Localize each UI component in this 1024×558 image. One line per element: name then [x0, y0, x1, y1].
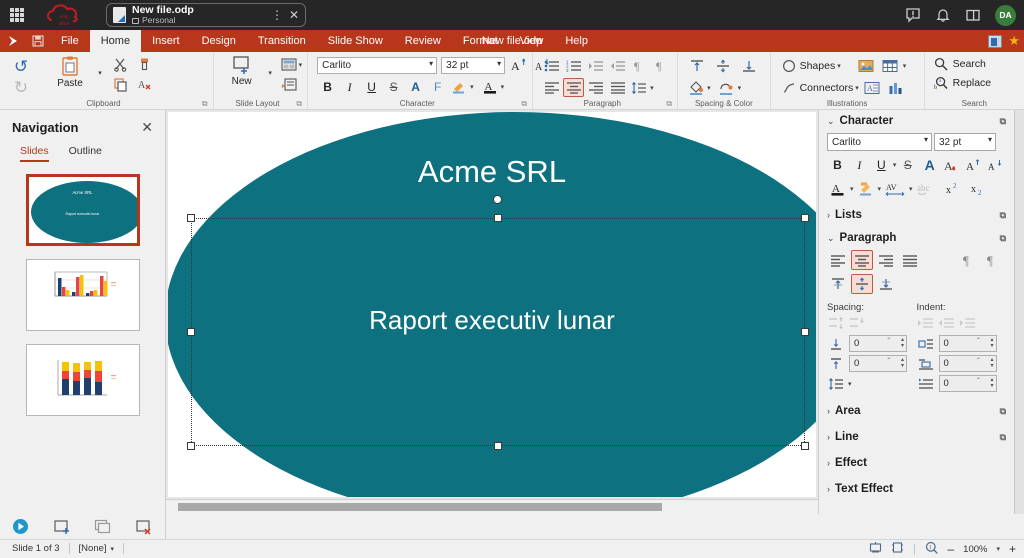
- resize-handle-bottom-center[interactable]: [494, 442, 502, 450]
- start-presentation-button[interactable]: [0, 514, 41, 539]
- line-spacing-button[interactable]: [629, 78, 649, 97]
- fit-slide-icon[interactable]: [869, 541, 882, 557]
- align-left-button[interactable]: [541, 78, 562, 97]
- first-line-indent-stepper[interactable]: ▴▾: [990, 377, 993, 389]
- chevron-down-icon: ⌄: [827, 233, 835, 244]
- top-bar: only office New file.odp Personal ⋮ ✕ DA: [0, 0, 1024, 30]
- tab-format[interactable]: Format: [452, 30, 509, 52]
- search-group-label: Search: [930, 98, 1019, 109]
- tab-menu-icon[interactable]: ⋮: [271, 8, 283, 22]
- align-right-button[interactable]: [585, 78, 606, 97]
- duplicate-slide-button[interactable]: [82, 514, 123, 539]
- resize-handle-top-left[interactable]: [187, 214, 195, 222]
- odp-file-icon: [113, 7, 126, 23]
- top-bar-actions: DA: [905, 0, 1016, 30]
- spacing-below-stepper[interactable]: ▴▾: [901, 357, 904, 369]
- ribbon-group-slide-layout: New ▾ ▾ Slide Layout⧉: [214, 52, 309, 109]
- area-dialog-icon[interactable]: ⧉: [1000, 406, 1006, 417]
- paste-button[interactable]: Paste: [50, 54, 90, 89]
- svg-text:A: A: [944, 159, 953, 173]
- properties-sidebar: ⌄ Character ⧉ Carlito 32 pt B I U ▾ S A …: [818, 110, 1014, 514]
- sidebar-spacing-dropdown[interactable]: ▾: [909, 185, 913, 193]
- indent-after-input[interactable]: 0 ˝ ▴▾: [939, 355, 997, 372]
- indent-after-icon: [917, 356, 935, 372]
- resize-handle-top-center[interactable]: [494, 214, 502, 222]
- slide-thumbnail-2[interactable]: [26, 259, 140, 331]
- svg-text:x: x: [946, 185, 951, 196]
- section-text-effect-label: Text Effect: [835, 483, 893, 495]
- svg-text:AV: AV: [886, 183, 897, 192]
- increase-font-size-button[interactable]: A: [509, 56, 529, 74]
- svg-text:¶: ¶: [656, 59, 662, 73]
- master-dropdown-icon[interactable]: ▾: [111, 545, 115, 553]
- ribbon-group-spacing-color: ▾ ▾ Spacing & Color: [678, 52, 770, 109]
- ltr-direction-button[interactable]: ¶: [629, 56, 650, 75]
- sidebar-font-name[interactable]: Carlito: [827, 133, 932, 151]
- font-color-dropdown[interactable]: ▾: [501, 83, 505, 91]
- svg-text:2: 2: [953, 182, 957, 190]
- spacing-below-icon: [827, 356, 845, 372]
- first-line-indent-icon: [917, 376, 935, 392]
- insert-table-button[interactable]: [879, 56, 901, 75]
- replace-label: Replace: [953, 77, 992, 89]
- slide-title-text[interactable]: Acme SRL: [168, 154, 816, 190]
- redo-button[interactable]: ↻: [9, 77, 33, 97]
- cut-button[interactable]: [110, 55, 130, 74]
- nav-tab-outline[interactable]: Outline: [69, 145, 102, 162]
- cloud-logo-icon[interactable]: only office: [44, 2, 84, 28]
- resize-handle-bottom-left[interactable]: [187, 442, 195, 450]
- tab-review[interactable]: Review: [394, 30, 452, 52]
- sidebar-icon-strip[interactable]: [1014, 110, 1024, 514]
- svg-text:3: 3: [566, 67, 569, 72]
- first-line-indent-input[interactable]: 0 ˝ ▴▾: [939, 375, 997, 392]
- sidebar-bold-button[interactable]: B: [827, 155, 848, 175]
- lists-dialog-icon[interactable]: ⧉: [1000, 210, 1006, 221]
- slide-thumbnail-list: Acme SRL Raport executiv lunar: [0, 162, 165, 416]
- decrease-paragraph-spacing-icon[interactable]: [848, 315, 866, 331]
- svg-text:A: A: [511, 59, 520, 73]
- svg-text:¶: ¶: [634, 59, 640, 73]
- sidebar-bottom-filler: [818, 514, 1024, 539]
- svg-text:only: only: [60, 14, 69, 19]
- svg-text:b: b: [934, 85, 937, 91]
- character-dialog-icon[interactable]: ⧉: [1000, 116, 1006, 127]
- sidebar-ltr-paragraph-button[interactable]: ¶: [958, 250, 980, 270]
- align-top-button[interactable]: [685, 56, 708, 75]
- spacing-label: Spacing:: [827, 302, 917, 313]
- slide-layout-group-label: Slide Layout⧉: [219, 98, 303, 109]
- sidebar-font-color-button[interactable]: A: [827, 179, 849, 199]
- highlight-dropdown[interactable]: ▾: [470, 83, 474, 91]
- section-character-label: Character: [840, 115, 894, 127]
- svg-text:office: office: [59, 21, 70, 26]
- section-line-label: Line: [835, 431, 859, 443]
- paste-label: Paste: [57, 78, 83, 89]
- sidebar-valign-top-button[interactable]: [827, 274, 849, 294]
- master-slide-selector[interactable]: [None]: [79, 543, 107, 554]
- new-slide-dropdown[interactable]: ▾: [265, 54, 276, 92]
- resize-handle-middle-right[interactable]: [801, 328, 809, 336]
- resize-handle-middle-left[interactable]: [187, 328, 195, 336]
- bold-button[interactable]: B: [317, 77, 338, 97]
- section-lists[interactable]: › Lists ⧉: [819, 204, 1014, 225]
- zoom-search-icon[interactable]: 1: [925, 541, 938, 557]
- svg-text:¶: ¶: [987, 253, 993, 268]
- delete-slide-button[interactable]: [123, 514, 164, 539]
- sidebar-align-justify-button[interactable]: [899, 250, 921, 270]
- table-dropdown[interactable]: ▾: [903, 62, 907, 70]
- status-bar: Slide 1 of 3 [None] ▾ 1 – 100% ▾ +: [0, 539, 1024, 557]
- indent-before-stepper[interactable]: ▴▾: [990, 337, 993, 349]
- tab-design[interactable]: Design: [191, 30, 247, 52]
- svg-text:A: A: [138, 80, 146, 91]
- bell-icon[interactable]: [935, 7, 951, 23]
- tab-view[interactable]: View: [509, 30, 555, 52]
- strikethrough-button[interactable]: S: [383, 77, 404, 97]
- increase-indent-icon[interactable]: [917, 315, 935, 331]
- sidebar-align-center-button[interactable]: [851, 250, 873, 270]
- document-location: Personal: [132, 16, 265, 26]
- sidebar-superscript-button[interactable]: x2: [943, 179, 967, 199]
- fill-color-dropdown[interactable]: ▾: [707, 84, 711, 92]
- indent-before-input[interactable]: 0 ˝ ▴▾: [939, 335, 997, 352]
- slide-thumbnail-1[interactable]: Acme SRL Raport executiv lunar: [26, 174, 140, 246]
- copy-button[interactable]: [110, 75, 130, 94]
- shapes-icon[interactable]: [780, 56, 798, 75]
- spacing-color-group-label: Spacing & Color: [683, 98, 764, 109]
- sidebar-subscript-button[interactable]: x2: [968, 179, 992, 199]
- tab-help[interactable]: Help: [554, 30, 599, 52]
- sidebar-increase-size-button[interactable]: A: [963, 155, 984, 175]
- paragraph-group-label: Paragraph⧉: [538, 98, 672, 109]
- highlight-color-button[interactable]: [449, 77, 469, 97]
- ribbon-group-illustrations: Shapes ▾ ▾ Connectors ▾ A: [771, 52, 925, 109]
- sidebar-underline-button[interactable]: U: [871, 155, 892, 175]
- font-case-button[interactable]: A: [405, 77, 426, 97]
- sidebar-character-spacing-button[interactable]: AV: [882, 179, 908, 199]
- svg-text:abc: abc: [917, 183, 930, 193]
- chevron-right-icon: ›: [827, 406, 830, 416]
- sidebar-rtl-paragraph-button[interactable]: ¶: [982, 250, 1004, 270]
- section-lists-label: Lists: [835, 209, 862, 221]
- clear-style-button[interactable]: F: [427, 77, 448, 97]
- section-effect[interactable]: › Effect: [819, 452, 1014, 473]
- spacing-above-icon: [827, 336, 845, 352]
- new-slide-button[interactable]: New: [222, 54, 262, 87]
- tab-insert[interactable]: Insert: [141, 30, 191, 52]
- horizontal-scrollbar-thumb[interactable]: [178, 503, 662, 511]
- sidebar-decrease-size-button[interactable]: A: [985, 155, 1006, 175]
- new-slide-button-bottom[interactable]: [41, 514, 82, 539]
- sidebar-font-style-button[interactable]: A: [919, 155, 940, 175]
- svg-text:a: a: [939, 79, 942, 84]
- close-icon[interactable]: ✕: [141, 119, 153, 136]
- thumb-subtitle-1: Raport executiv lunar: [29, 212, 137, 216]
- character-dialog-launcher[interactable]: ⧉: [521, 98, 527, 109]
- svg-text:A: A: [988, 162, 995, 172]
- horizontal-scrollbar[interactable]: [166, 499, 818, 514]
- align-bottom-button[interactable]: [737, 56, 760, 75]
- underline-button[interactable]: U: [361, 77, 382, 97]
- svg-text:1: 1: [929, 545, 932, 551]
- line-spacing-dropdown[interactable]: ▾: [650, 84, 654, 92]
- svg-text:¶: ¶: [963, 253, 969, 268]
- decrease-indent-icon[interactable]: [938, 315, 956, 331]
- panel-toggle-icon[interactable]: [965, 7, 981, 23]
- tab-transition[interactable]: Transition: [247, 30, 317, 52]
- sidebar-highlight-button[interactable]: [855, 179, 877, 199]
- ribbon-group-clipboard: ↺ ↻ Paste ▾ A: [0, 52, 214, 109]
- ordered-list-button[interactable]: 123: [563, 56, 584, 75]
- fit-page-icon[interactable]: [891, 541, 904, 557]
- illustrations-group-label: Illustrations: [776, 98, 919, 109]
- connectors-icon[interactable]: [780, 78, 798, 97]
- layout-dropdown[interactable]: ▾: [299, 61, 303, 69]
- svg-text:A: A: [966, 161, 974, 173]
- shapes-dropdown[interactable]: ▾: [837, 62, 841, 70]
- slide-canvas-area: Acme SRL Raport executiv lunar: [166, 110, 818, 514]
- sidebar-font-size[interactable]: 32 pt: [934, 133, 996, 151]
- sidebar-align-left-button[interactable]: [827, 250, 849, 270]
- align-middle-button[interactable]: [711, 56, 734, 75]
- nav-tab-slides[interactable]: Slides: [20, 145, 49, 162]
- tab-file[interactable]: File: [50, 30, 90, 52]
- chevron-right-icon: ›: [827, 210, 830, 220]
- increase-indent-button[interactable]: [585, 56, 606, 75]
- canvas-bottom-filler: [166, 514, 818, 539]
- zoom-dropdown-icon[interactable]: ▾: [996, 545, 1000, 553]
- section-effect-label: Effect: [835, 457, 867, 469]
- font-size-input[interactable]: 32 pt: [441, 57, 505, 74]
- slide-actions-bar: [0, 514, 166, 539]
- insert-textbox-button[interactable]: A: [861, 78, 883, 97]
- indent-after-stepper[interactable]: ▴▾: [990, 357, 993, 369]
- increase-paragraph-spacing-icon[interactable]: [827, 315, 845, 331]
- section-area[interactable]: › Area ⧉: [819, 400, 1014, 421]
- unordered-list-button[interactable]: [541, 56, 562, 75]
- slide-layout-dialog-launcher[interactable]: ⧉: [296, 98, 302, 109]
- change-layout-button[interactable]: [279, 55, 299, 74]
- section-text-effect[interactable]: › Text Effect: [819, 478, 1014, 499]
- decrease-indent-button[interactable]: [607, 56, 628, 75]
- chevron-right-icon: ›: [827, 432, 830, 442]
- paragraph-dialog-launcher[interactable]: ⧉: [666, 98, 672, 109]
- start-presentation-icon[interactable]: [0, 35, 26, 47]
- font-name-input[interactable]: Carlito: [317, 57, 437, 74]
- navigation-panel: Navigation ✕ Slides Outline Acme SRL Rap…: [0, 110, 166, 514]
- tab-home[interactable]: Home: [90, 30, 141, 52]
- clone-formatting-button[interactable]: [134, 55, 154, 74]
- chevron-down-icon: ⌄: [827, 116, 835, 127]
- zoom-in-button[interactable]: +: [1009, 542, 1016, 556]
- slide-surface[interactable]: Acme SRL Raport executiv lunar: [168, 112, 816, 497]
- comment-icon[interactable]: [905, 7, 921, 23]
- undo-button[interactable]: ↺: [9, 56, 33, 76]
- menu-bar: File Home Insert Design Transition Slide…: [0, 30, 1024, 52]
- ribbon-group-search: Search ba Replace Search: [925, 52, 1024, 109]
- sidebar-italic-button[interactable]: I: [849, 155, 870, 175]
- tab-slide-show[interactable]: Slide Show: [317, 30, 394, 52]
- sidebar-valign-middle-button[interactable]: [851, 274, 873, 294]
- connectors-dropdown[interactable]: ▾: [855, 84, 859, 92]
- document-tab[interactable]: New file.odp Personal ⋮ ✕: [106, 3, 306, 27]
- resize-handle-top-right[interactable]: [801, 214, 809, 222]
- line-spacing-sidebar-icon[interactable]: [827, 376, 845, 392]
- paragraph-dialog-icon[interactable]: ⧉: [1000, 233, 1006, 244]
- ribbon-group-character: Carlito 32 pt A A B I U S A F ▾: [308, 52, 533, 109]
- paste-dropdown[interactable]: ▾: [94, 54, 106, 92]
- avatar[interactable]: DA: [995, 5, 1016, 26]
- zoom-out-button[interactable]: –: [947, 542, 954, 556]
- section-paragraph-label: Paragraph: [840, 232, 897, 244]
- slide-thumbnail-3[interactable]: [26, 344, 140, 416]
- section-paragraph[interactable]: ⌄ Paragraph ⧉: [819, 227, 1014, 248]
- insert-chart-button[interactable]: [885, 78, 907, 97]
- svg-text:A: A: [867, 84, 873, 93]
- clipboard-group-label: Clipboard⧉: [5, 98, 208, 109]
- new-slide-label: New: [232, 76, 252, 87]
- search-label: Search: [953, 58, 986, 70]
- slide-properties-button[interactable]: [279, 75, 299, 94]
- font-color-button[interactable]: A: [480, 77, 500, 97]
- spacing-above-stepper[interactable]: ▴▾: [901, 337, 904, 349]
- collapse-ribbon-icon[interactable]: [988, 35, 1002, 48]
- section-area-label: Area: [835, 405, 861, 417]
- search-button[interactable]: Search: [934, 57, 986, 71]
- line-color-button[interactable]: [716, 78, 737, 97]
- folder-icon: [132, 18, 139, 24]
- ribbon-group-paragraph: 123 ¶ ¶: [533, 52, 678, 109]
- sidebar-clear-formatting-button[interactable]: A: [941, 155, 962, 175]
- zoom-level: 100%: [963, 544, 987, 555]
- svg-text:x: x: [971, 184, 976, 195]
- connectors-label[interactable]: Connectors: [800, 82, 854, 94]
- grid-apps-icon[interactable]: [10, 8, 24, 22]
- section-line[interactable]: › Line ⧉: [819, 426, 1014, 447]
- sidebar-strikethrough-button[interactable]: S: [897, 155, 918, 175]
- resize-handle-bottom-right[interactable]: [801, 442, 809, 450]
- favorite-icon[interactable]: ★: [1008, 33, 1020, 49]
- sidebar-align-right-button[interactable]: [875, 250, 897, 270]
- indent-before-icon: [917, 336, 935, 352]
- underline-dropdown[interactable]: ▾: [893, 161, 897, 169]
- italic-button[interactable]: I: [339, 77, 360, 97]
- align-center-button[interactable]: [563, 78, 584, 97]
- character-group-label: Character⧉: [313, 98, 527, 109]
- hanging-indent-icon[interactable]: [959, 315, 977, 331]
- shapes-label[interactable]: Shapes: [800, 60, 836, 72]
- line-spacing-sidebar-dropdown[interactable]: ▾: [848, 380, 852, 388]
- sidebar-highlight-dropdown[interactable]: ▾: [878, 185, 882, 193]
- replace-button[interactable]: ba Replace: [934, 76, 992, 90]
- ribbon-toolbar: ↺ ↻ Paste ▾ A: [0, 52, 1024, 110]
- svg-text:2: 2: [978, 189, 982, 197]
- section-character[interactable]: ⌄ Character ⧉: [819, 110, 1014, 131]
- rtl-direction-button[interactable]: ¶: [651, 56, 672, 75]
- sidebar-font-color-dropdown[interactable]: ▾: [850, 185, 854, 193]
- thumb-title-1: Acme SRL: [29, 190, 137, 195]
- line-dialog-icon[interactable]: ⧉: [1000, 432, 1006, 443]
- line-color-dropdown[interactable]: ▾: [738, 84, 742, 92]
- chevron-right-icon: ›: [827, 484, 830, 494]
- clear-formatting-button[interactable]: A: [134, 75, 154, 94]
- save-icon[interactable]: [26, 35, 50, 47]
- indent-label: Indent:: [917, 302, 1007, 313]
- rotation-handle[interactable]: [493, 195, 502, 204]
- insert-image-button[interactable]: [855, 56, 877, 75]
- spacing-below-input[interactable]: 0 ˝ ▴▾: [849, 355, 907, 372]
- selection-bounding-box: [191, 218, 805, 446]
- fill-color-button[interactable]: [685, 78, 706, 97]
- align-justify-button[interactable]: [607, 78, 628, 97]
- sidebar-change-case-button[interactable]: abc: [914, 179, 938, 199]
- sidebar-valign-bottom-button[interactable]: [875, 274, 897, 294]
- close-tab-icon[interactable]: ✕: [289, 8, 299, 22]
- slide-counter: Slide 1 of 3: [12, 543, 60, 554]
- navigation-title: Navigation: [12, 120, 78, 135]
- chevron-right-icon: ›: [827, 458, 830, 468]
- clipboard-dialog-launcher[interactable]: ⧉: [202, 98, 208, 109]
- spacing-above-input[interactable]: 0 ˝ ▴▾: [849, 335, 907, 352]
